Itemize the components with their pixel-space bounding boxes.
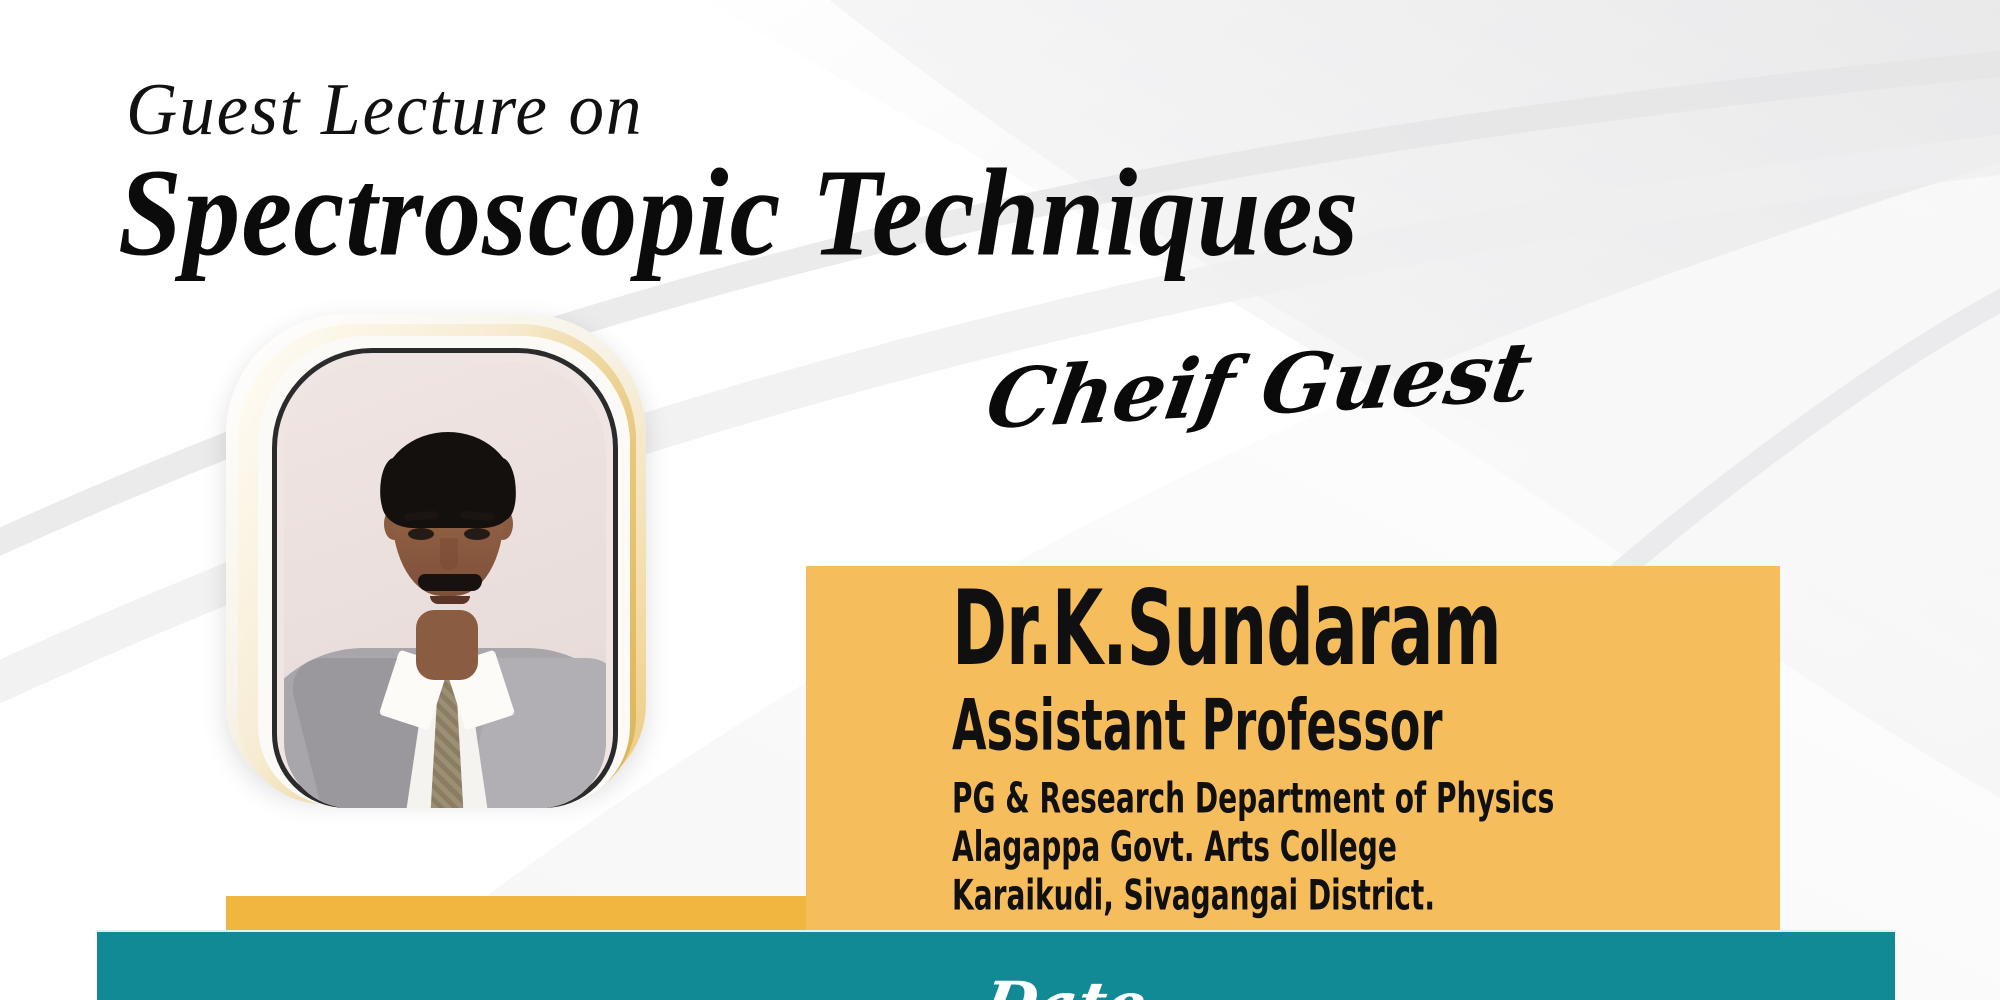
speaker-designation: Assistant Professor <box>952 690 1608 761</box>
affiliation-line: PG & Research Department of Physics <box>952 774 1624 822</box>
page-title: Spectroscopic Techniques <box>118 142 1359 286</box>
speaker-affiliation: PG & Research Department of Physics Alag… <box>952 774 1624 919</box>
speaker-info-block: Dr.K.Sundaram Assistant Professor PG & R… <box>952 578 1772 906</box>
photo-eye-right <box>464 528 490 540</box>
speaker-photo <box>284 362 606 808</box>
footer-date-label: Date <box>977 968 1152 1000</box>
kicker-text: Guest Lecture on <box>126 68 643 153</box>
affiliation-line: Alagappa Govt. Arts College <box>952 822 1624 870</box>
speaker-name: Dr.K.Sundaram <box>952 578 1608 681</box>
affiliation-line: Karaikudi, Sivagangai District. <box>952 871 1624 919</box>
photo-neck <box>416 610 478 680</box>
photo-mouth <box>430 596 470 604</box>
poster-canvas: Guest Lecture on Spectroscopic Technique… <box>0 0 2000 1000</box>
photo-nose <box>440 538 458 570</box>
photo-eye-left <box>408 528 434 540</box>
photo-moustache <box>418 574 482 591</box>
